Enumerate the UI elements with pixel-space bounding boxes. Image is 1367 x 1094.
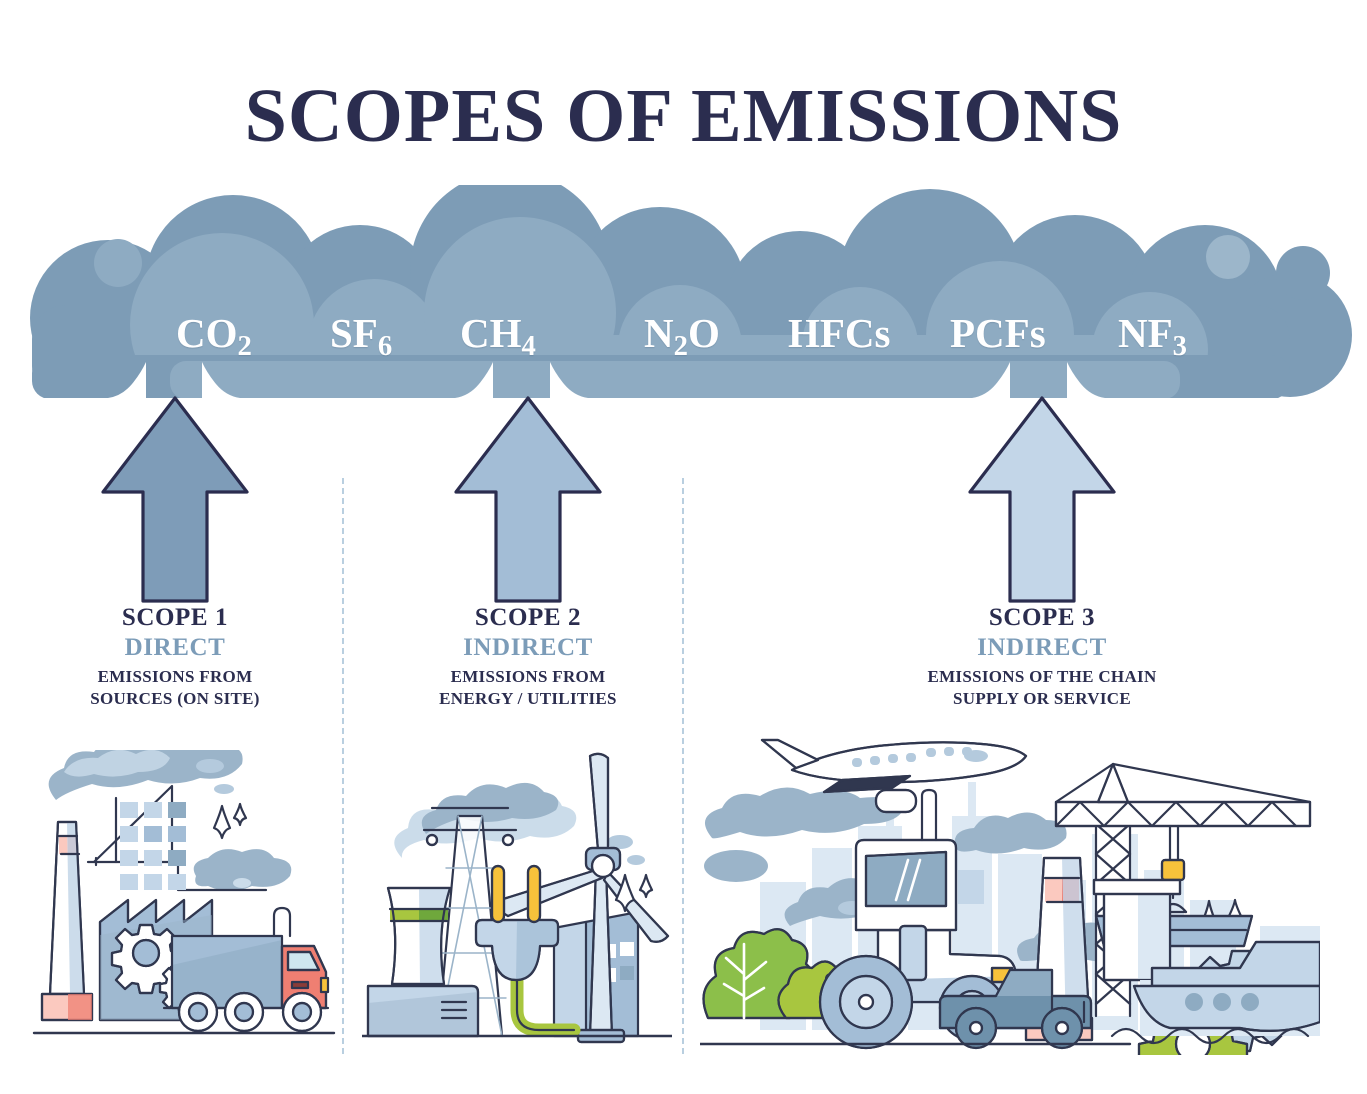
arrow-scope-3 bbox=[962, 392, 1122, 607]
scope-2-label: SCOPE 2 bbox=[388, 604, 668, 633]
gas-label-group: CO2 SF6 CH4 N2O HFCs PCFs NF3 bbox=[0, 185, 1367, 415]
illustration-scope-2 bbox=[362, 748, 672, 1056]
gas-label-ch4: CH4 bbox=[460, 313, 536, 361]
gas-label-hfcs: HFCs bbox=[788, 313, 891, 354]
caption-scope-3: SCOPE 3 INDIRECT EMISSIONS OF THE CHAIN … bbox=[878, 604, 1206, 711]
scope-2-desc-line-1: EMISSIONS FROM bbox=[388, 666, 668, 688]
arrow-scope-1 bbox=[95, 392, 255, 607]
infographic-canvas: SCOPES OF EMISSIONS bbox=[0, 0, 1367, 1094]
scope-1-label: SCOPE 1 bbox=[35, 604, 315, 633]
gas-label-pcfs: PCFs bbox=[950, 313, 1046, 354]
scope-1-kind: DIRECT bbox=[35, 633, 315, 663]
gas-label-nf3: NF3 bbox=[1118, 313, 1187, 361]
scope-3-desc-line-2: SUPPLY OR SERVICE bbox=[878, 688, 1206, 710]
illustration-scope-1 bbox=[28, 750, 338, 1055]
gas-label-n2o: N2O bbox=[644, 313, 720, 361]
divider-scope-1-2 bbox=[342, 478, 344, 1054]
arrow-scope-2 bbox=[448, 392, 608, 607]
gas-label-co2: CO2 bbox=[176, 313, 252, 361]
scope-1-desc-line-2: SOURCES (ON SITE) bbox=[35, 688, 315, 710]
illustration-scope-3 bbox=[700, 730, 1320, 1055]
caption-scope-2: SCOPE 2 INDIRECT EMISSIONS FROM ENERGY /… bbox=[388, 604, 668, 711]
caption-scope-1: SCOPE 1 DIRECT EMISSIONS FROM SOURCES (O… bbox=[35, 604, 315, 711]
gas-label-sf6: SF6 bbox=[330, 313, 392, 361]
scope-2-desc-line-2: ENERGY / UTILITIES bbox=[388, 688, 668, 710]
scope-3-kind: INDIRECT bbox=[878, 633, 1206, 663]
scope-1-desc-line-1: EMISSIONS FROM bbox=[35, 666, 315, 688]
scope-2-kind: INDIRECT bbox=[388, 633, 668, 663]
scope-3-desc-line-1: EMISSIONS OF THE CHAIN bbox=[878, 666, 1206, 688]
divider-scope-2-3 bbox=[682, 478, 684, 1054]
scope-3-label: SCOPE 3 bbox=[878, 604, 1206, 633]
page-title: SCOPES OF EMISSIONS bbox=[0, 78, 1367, 154]
